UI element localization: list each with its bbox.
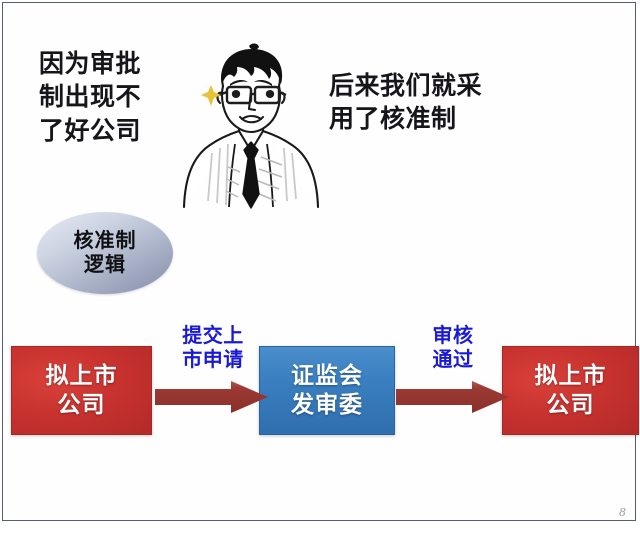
caption-left: 因为审批 制出现不 了好公司 bbox=[39, 47, 141, 147]
flow-box-company-1[interactable]: 拟上市 公司 bbox=[11, 346, 152, 435]
flow-box-csrc-label: 证监会 发审委 bbox=[291, 362, 363, 418]
cartoon-man-illustration bbox=[166, 29, 336, 209]
flow-box-csrc[interactable]: 证监会 发审委 bbox=[259, 346, 395, 435]
flow-arrow-2 bbox=[396, 381, 509, 413]
slide-canvas: 因为审批 制出现不 了好公司 后来我们就采 用了核准制 bbox=[0, 0, 640, 533]
logic-ellipse: 核准制 逻辑 bbox=[37, 212, 173, 294]
flow-box-company-1-label: 拟上市 公司 bbox=[46, 362, 118, 418]
slide-frame: 因为审批 制出现不 了好公司 后来我们就采 用了核准制 bbox=[2, 2, 636, 521]
flow-arrow-2-label: 审核 通过 bbox=[399, 323, 507, 372]
caption-right: 后来我们就采 用了核准制 bbox=[329, 69, 482, 136]
flow-box-company-2-label: 拟上市 公司 bbox=[535, 362, 607, 418]
logic-ellipse-label: 核准制 逻辑 bbox=[74, 229, 137, 276]
flow-arrow-1 bbox=[155, 381, 268, 413]
page-number: 8 bbox=[619, 506, 626, 519]
flow-arrow-1-label: 提交上 市申请 bbox=[158, 323, 268, 372]
flow-box-company-2[interactable]: 拟上市 公司 bbox=[502, 346, 639, 435]
